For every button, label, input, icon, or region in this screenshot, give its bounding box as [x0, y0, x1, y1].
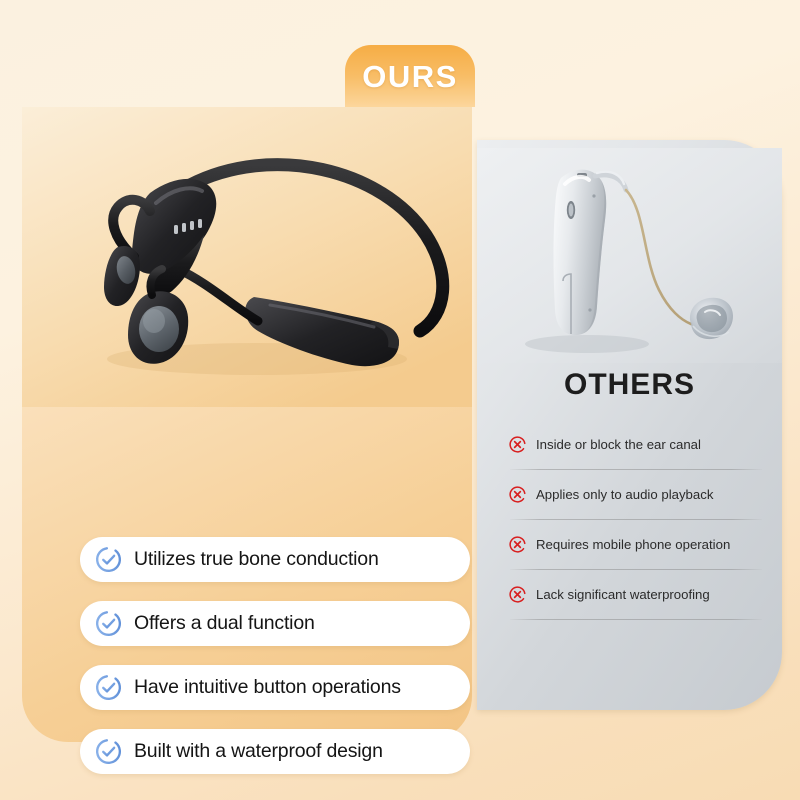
feature-item: Utilizes true bone conduction — [80, 537, 470, 582]
drawback-item: Lack significant waterproofing — [508, 582, 770, 607]
drawback-label: Inside or block the ear canal — [536, 437, 701, 452]
feature-label: Utilizes true bone conduction — [134, 548, 379, 571]
check-circle-icon — [94, 545, 123, 574]
feature-label: Have intuitive button operations — [134, 676, 401, 699]
list-divider — [510, 569, 762, 570]
x-circle-icon — [508, 585, 527, 604]
x-circle-icon — [508, 535, 527, 554]
ours-banner-tab: OURS — [345, 45, 475, 107]
feature-item: Have intuitive button operations — [80, 665, 470, 710]
ours-banner-label: OURS — [362, 61, 458, 92]
list-divider — [510, 469, 762, 470]
check-circle-icon — [94, 673, 123, 702]
feature-label: Offers a dual function — [134, 612, 315, 635]
drawback-label: Requires mobile phone operation — [536, 537, 730, 552]
x-circle-icon — [508, 435, 527, 454]
list-divider — [510, 519, 762, 520]
x-circle-icon — [508, 485, 527, 504]
others-title: OTHERS — [477, 368, 782, 402]
check-circle-icon — [94, 609, 123, 638]
drawback-item: Inside or block the ear canal — [508, 432, 770, 457]
drawback-item: Requires mobile phone operation — [508, 532, 770, 557]
ours-panel: Utilizes true bone conduction Offers a d… — [22, 107, 472, 742]
bone-conduction-headphones-image — [22, 107, 472, 407]
list-divider — [510, 619, 762, 620]
feature-item: Offers a dual function — [80, 601, 470, 646]
hearing-aid-image — [477, 148, 782, 363]
ours-feature-list: Utilizes true bone conduction Offers a d… — [80, 537, 470, 774]
check-circle-icon — [94, 737, 123, 766]
feature-label: Built with a waterproof design — [134, 740, 383, 763]
comparison-infographic: Utilizes true bone conduction Offers a d… — [0, 0, 800, 800]
drawback-label: Lack significant waterproofing — [536, 587, 710, 602]
drawback-item: Applies only to audio playback — [508, 482, 770, 507]
drawback-label: Applies only to audio playback — [536, 487, 713, 502]
others-drawback-list: Inside or block the ear canal Applies on… — [508, 432, 770, 632]
feature-item: Built with a waterproof design — [80, 729, 470, 774]
